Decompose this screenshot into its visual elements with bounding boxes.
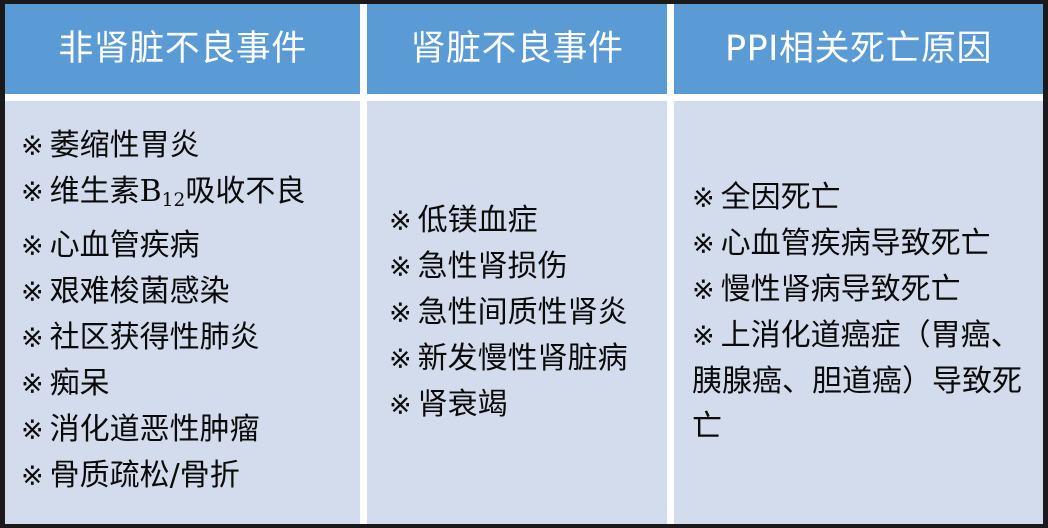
- table-header-row: 非肾脏不良事件 肾脏不良事件 PPI相关死亡原因: [5, 4, 1043, 94]
- reference-mark-icon: ※: [21, 369, 44, 400]
- list-item: ※急性肾损伤: [389, 244, 657, 290]
- reference-mark-icon: ※: [692, 229, 715, 260]
- list-item-label: 新发慢性肾脏病: [418, 341, 628, 376]
- reference-mark-icon: ※: [692, 183, 715, 214]
- list-item: ※痴呆: [21, 361, 350, 407]
- column-body-non-renal-adverse-events: ※萎缩性胃炎※维生素B12吸收不良※心血管疾病※艰难梭菌感染※社区获得性肺炎※痴…: [5, 101, 360, 524]
- list-item: ※新发慢性肾脏病: [389, 336, 657, 382]
- subscript-digits: 12: [162, 190, 186, 211]
- table-frame-bottom: [0, 524, 1048, 528]
- vitamin-b12-formula: B12: [140, 174, 186, 209]
- column-body-renal-adverse-events: ※低镁血症※急性肾损伤※急性间质性肾炎※新发慢性肾脏病※肾衰竭: [367, 101, 667, 524]
- table-frame-right: [1043, 0, 1048, 528]
- adverse-event-list: ※萎缩性胃炎※维生素B12吸收不良※心血管疾病※艰难梭菌感染※社区获得性肺炎※痴…: [21, 123, 350, 499]
- column-body-ppi-related-death-causes: ※全因死亡※心血管疾病导致死亡※慢性肾病导致死亡※上消化道癌症（胃癌、胰腺癌、胆…: [674, 101, 1043, 524]
- list-item-label: 肾衰竭: [418, 387, 508, 422]
- list-item-label: 上消化道癌症（胃癌、胰腺癌、胆道癌）导致死亡: [692, 318, 1022, 444]
- list-item-label: 慢性肾病导致死亡: [721, 272, 961, 307]
- adverse-events-table: 非肾脏不良事件 肾脏不良事件 PPI相关死亡原因 ※萎缩性胃炎※维生素B12吸收…: [0, 0, 1048, 528]
- adverse-event-list: ※全因死亡※心血管疾病导致死亡※慢性肾病导致死亡※上消化道癌症（胃癌、胰腺癌、胆…: [692, 175, 1033, 449]
- list-item-label: 急性肾损伤: [418, 249, 568, 284]
- list-item: ※骨质疏松/骨折: [21, 453, 350, 499]
- list-item-label: 社区获得性肺炎: [50, 320, 260, 355]
- reference-mark-icon: ※: [389, 252, 412, 283]
- list-item-label: 维生素B12吸收不良: [50, 174, 306, 209]
- list-item: ※全因死亡: [692, 175, 1033, 221]
- list-item: ※慢性肾病导致死亡: [692, 267, 1033, 313]
- reference-mark-icon: ※: [21, 323, 44, 354]
- list-item: ※上消化道癌症（胃癌、胰腺癌、胆道癌）导致死亡: [692, 313, 1033, 449]
- list-item: ※心血管疾病导致死亡: [692, 221, 1033, 267]
- reference-mark-icon: ※: [389, 390, 412, 421]
- reference-mark-icon: ※: [21, 277, 44, 308]
- list-item: ※维生素B12吸收不良: [21, 169, 350, 223]
- column-header-renal-adverse-events: 肾脏不良事件: [367, 4, 667, 94]
- column-header-ppi-related-death-causes: PPI相关死亡原因: [674, 4, 1043, 94]
- list-item: ※心血管疾病: [21, 223, 350, 269]
- list-item-label: 骨质疏松/骨折: [50, 458, 240, 493]
- list-item-label: 萎缩性胃炎: [50, 128, 200, 163]
- list-item: ※社区获得性肺炎: [21, 315, 350, 361]
- adverse-event-list: ※低镁血症※急性肾损伤※急性间质性肾炎※新发慢性肾脏病※肾衰竭: [389, 198, 657, 428]
- list-item: ※艰难梭菌感染: [21, 269, 350, 315]
- list-item-label: 心血管疾病导致死亡: [721, 226, 991, 261]
- list-item-label: 艰难梭菌感染: [50, 274, 230, 309]
- column-header-label: 非肾脏不良事件: [58, 32, 307, 67]
- list-item: ※低镁血症: [389, 198, 657, 244]
- list-item-label: 心血管疾病: [50, 228, 200, 263]
- list-item-label: 急性间质性肾炎: [418, 295, 628, 330]
- reference-mark-icon: ※: [21, 231, 44, 262]
- list-item-label: 痴呆: [50, 366, 110, 401]
- list-item: ※急性间质性肾炎: [389, 290, 657, 336]
- table-body-row: ※萎缩性胃炎※维生素B12吸收不良※心血管疾病※艰难梭菌感染※社区获得性肺炎※痴…: [5, 101, 1043, 524]
- reference-mark-icon: ※: [692, 275, 715, 306]
- column-header-label: PPI相关死亡原因: [725, 32, 992, 67]
- list-item: ※肾衰竭: [389, 382, 657, 428]
- column-header-label: 肾脏不良事件: [410, 32, 623, 67]
- reference-mark-icon: ※: [21, 131, 44, 162]
- list-item-label: 消化道恶性肿瘤: [50, 412, 260, 447]
- list-item: ※消化道恶性肿瘤: [21, 407, 350, 453]
- reference-mark-icon: ※: [692, 321, 715, 352]
- reference-mark-icon: ※: [389, 344, 412, 375]
- reference-mark-icon: ※: [389, 298, 412, 329]
- reference-mark-icon: ※: [21, 415, 44, 446]
- list-item-label: 全因死亡: [721, 180, 841, 215]
- reference-mark-icon: ※: [389, 206, 412, 237]
- reference-mark-icon: ※: [21, 177, 44, 208]
- list-item-label: 低镁血症: [418, 203, 538, 238]
- column-header-non-renal-adverse-events: 非肾脏不良事件: [5, 4, 360, 94]
- reference-mark-icon: ※: [21, 461, 44, 492]
- list-item: ※萎缩性胃炎: [21, 123, 350, 169]
